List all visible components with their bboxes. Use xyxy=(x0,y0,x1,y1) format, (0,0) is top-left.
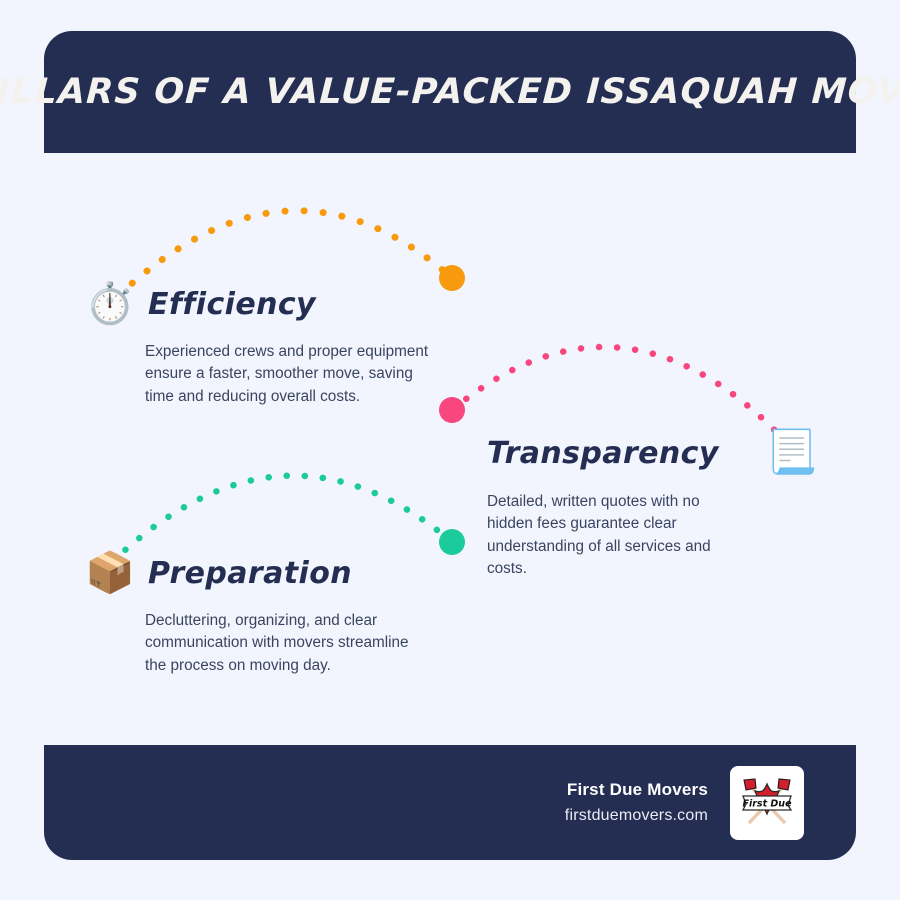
pillar-efficiency-title: Efficiency xyxy=(148,287,316,322)
pillar-efficiency-head: ⏱️ Efficiency xyxy=(84,276,430,332)
pillar-preparation-body: Decluttering, organizing, and clear comm… xyxy=(145,610,430,677)
footer-company-name: First Due Movers xyxy=(565,780,708,800)
pillar-transparency: Transparency Detailed, written quotes wi… xyxy=(487,425,737,580)
pillar-transparency-title: Transparency xyxy=(487,436,719,471)
logo-banner-text: First Due xyxy=(742,798,792,809)
pillar-transparency-head: Transparency xyxy=(487,425,737,481)
stopwatch-icon: ⏱️ xyxy=(84,278,136,330)
pink-endpoint-dot xyxy=(439,397,465,423)
footer-text-block: First Due Movers firstduemovers.com xyxy=(565,780,708,825)
page-title: PILLARS OF A VALUE-PACKED ISSAQUAH MOVE xyxy=(0,72,900,112)
pillar-efficiency-body: Experienced crews and proper equipment e… xyxy=(145,341,430,408)
footer-banner: First Due Movers firstduemovers.com Firs… xyxy=(44,745,856,860)
header-banner: PILLARS OF A VALUE-PACKED ISSAQUAH MOVE xyxy=(44,31,856,153)
teal-endpoint-dot xyxy=(439,529,465,555)
page-with-curl-icon: 📃 xyxy=(764,424,820,480)
pillar-preparation-title: Preparation xyxy=(148,556,352,591)
pillar-preparation: 📦 Preparation Decluttering, organizing, … xyxy=(84,545,430,677)
pillar-efficiency: ⏱️ Efficiency Experienced crews and prop… xyxy=(84,276,430,408)
infographic-canvas: PILLARS OF A VALUE-PACKED ISSAQUAH MOVE … xyxy=(0,0,900,900)
package-box-icon: 📦 xyxy=(84,547,136,599)
pillar-preparation-head: 📦 Preparation xyxy=(84,545,430,601)
orange-endpoint-dot xyxy=(439,265,465,291)
footer-website-url[interactable]: firstduemovers.com xyxy=(565,807,708,825)
pillar-transparency-body: Detailed, written quotes with no hidden … xyxy=(487,491,737,580)
first-due-maltese-cross-logo: First Due xyxy=(730,766,804,840)
